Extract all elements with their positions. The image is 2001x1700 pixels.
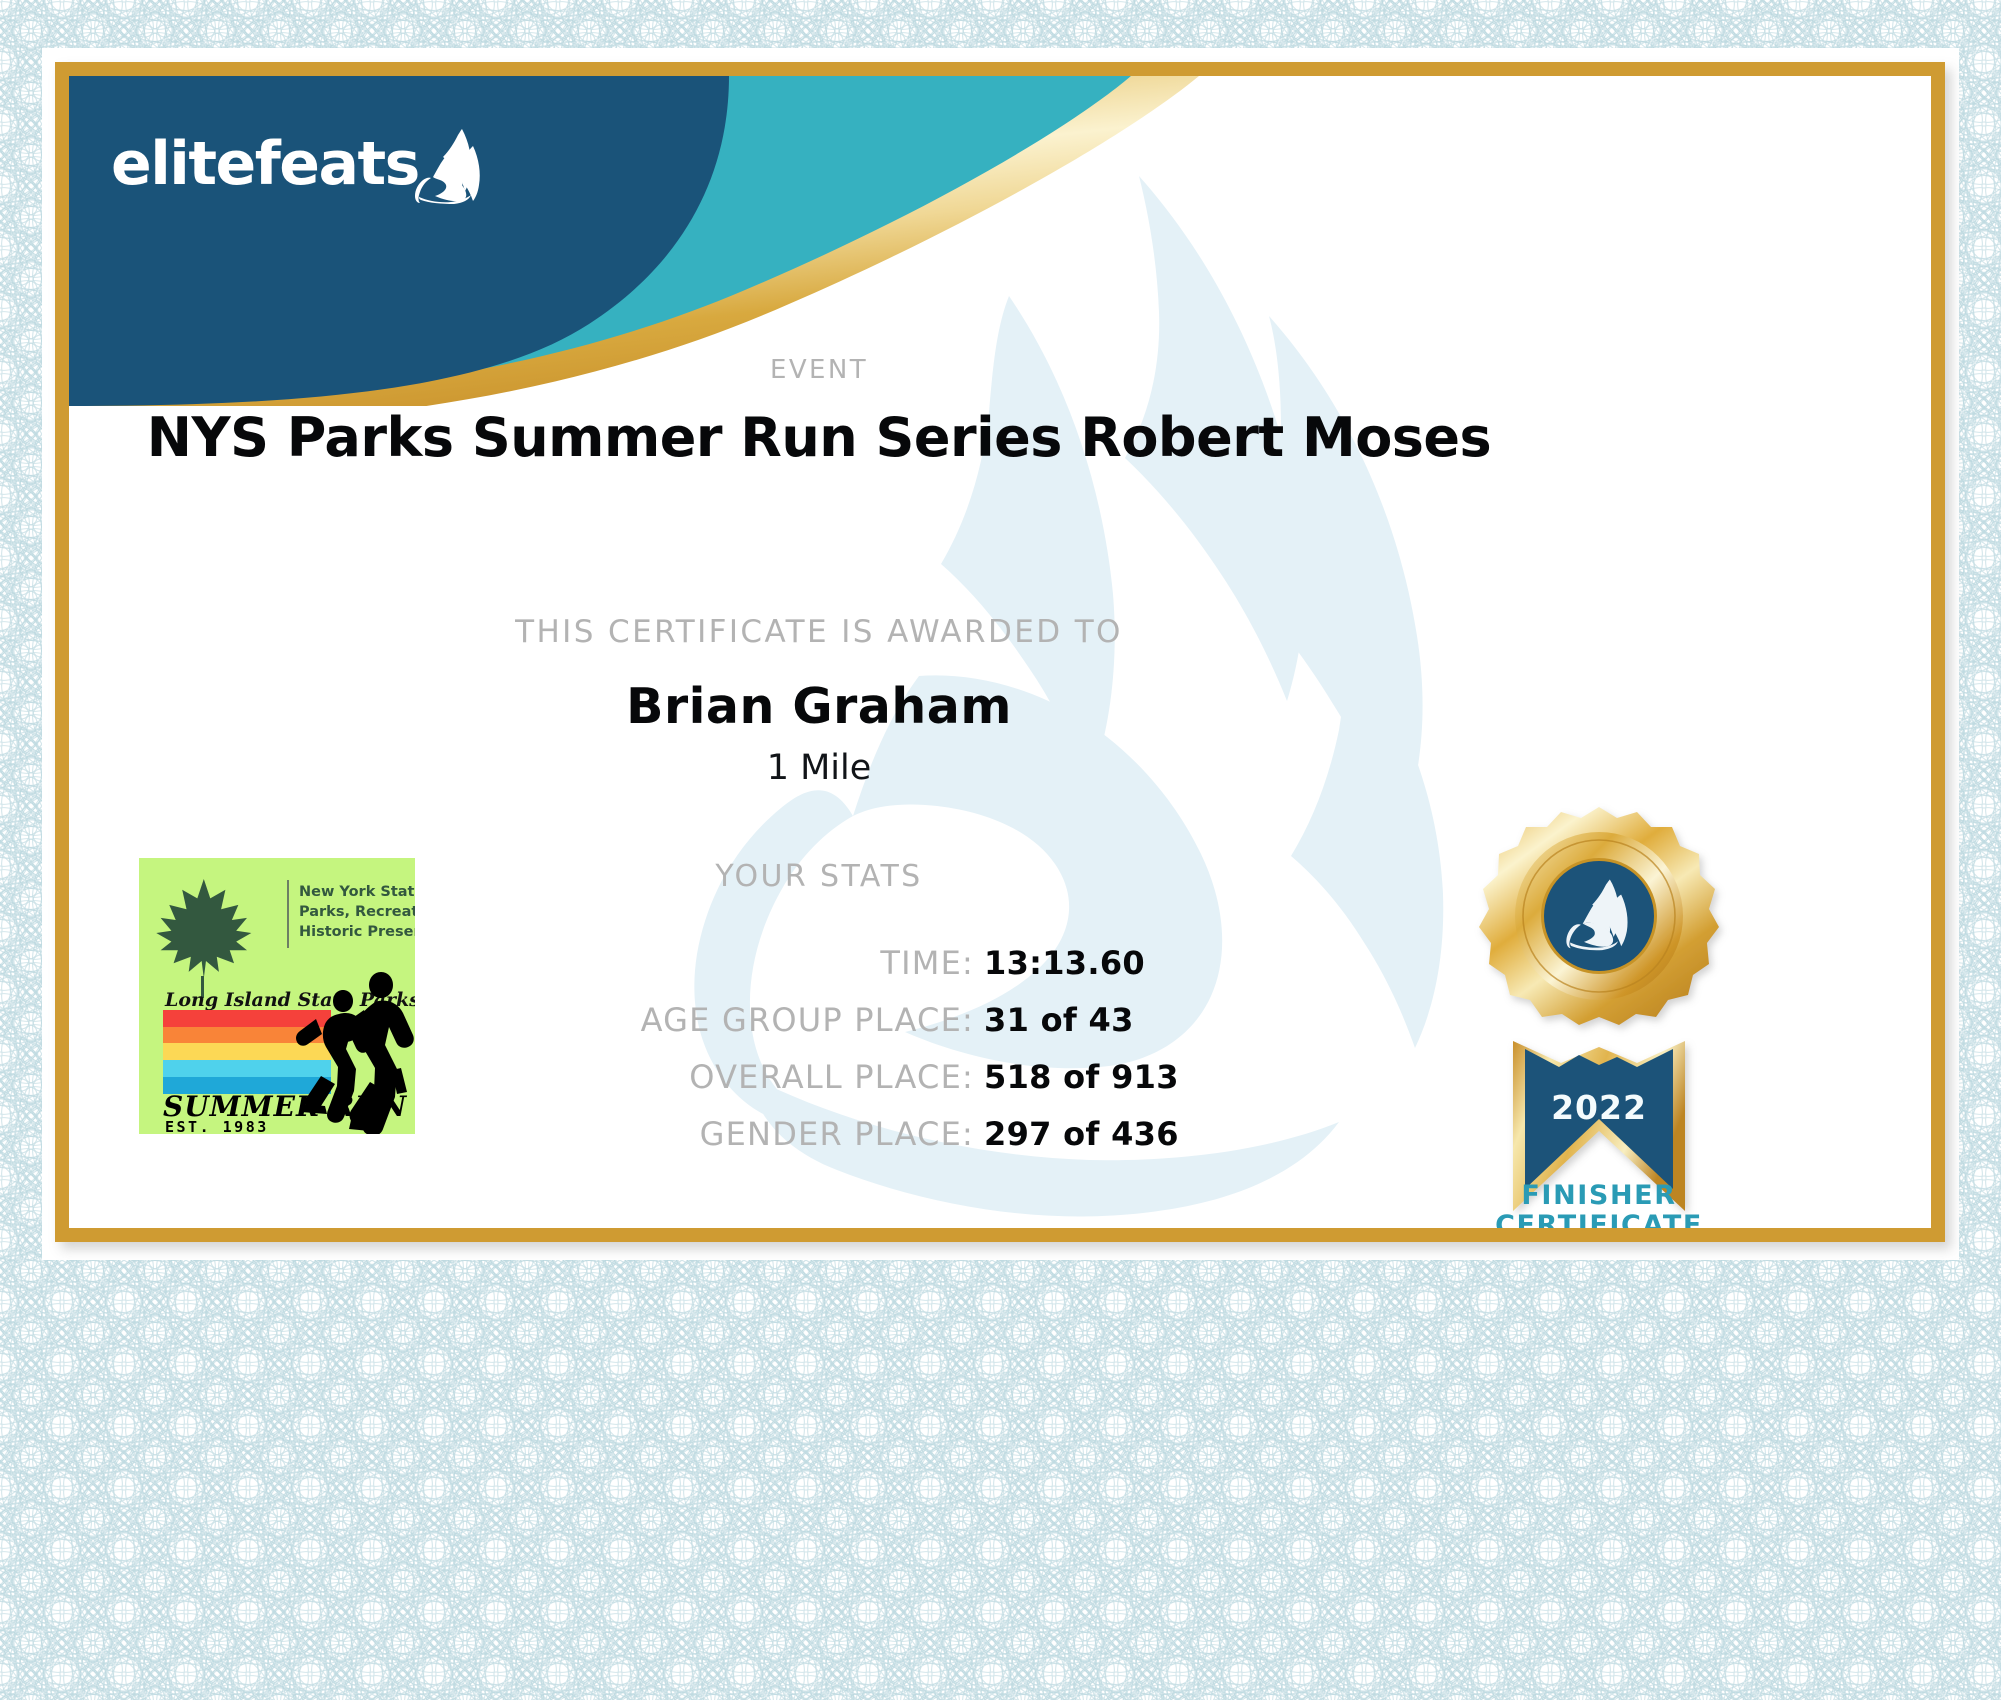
badge-year: 2022 [1551, 1088, 1647, 1127]
winged-foot-icon [415, 126, 487, 204]
brand-wordmark: elitefeats [111, 134, 419, 194]
stat-value: 31 of 43 [984, 1001, 1314, 1039]
certificate-gold-frame: elitefeats EVENT NYS Parks Summer Run Se… [55, 62, 1945, 1242]
recipient-name: Brian Graham [69, 678, 1569, 735]
agency-line-2: Parks, Recreation and [299, 904, 415, 920]
rainbow-stripes [163, 1010, 331, 1094]
gold-medal-rosette-icon: 2022 [1467, 801, 1731, 1221]
badge-caption-line-1: FINISHER [1437, 1181, 1761, 1211]
stat-value: 297 of 436 [984, 1115, 1314, 1153]
stat-key: AGE GROUP PLACE: [324, 1001, 984, 1039]
established: EST. 1983 [165, 1118, 269, 1134]
badge-caption: FINISHER CERTIFICATE [1437, 1181, 1761, 1228]
stat-key: TIME: [324, 944, 984, 982]
certificate-inner-panel: elitefeats EVENT NYS Parks Summer Run Se… [69, 76, 1931, 1228]
race-division: 1 Mile [69, 748, 1569, 788]
agency-line-3: Historic Preservation [299, 924, 415, 940]
agency-line-1: New York State [299, 884, 415, 900]
event-label: EVENT [69, 355, 1569, 385]
stat-key: OVERALL PLACE: [324, 1058, 984, 1096]
certificate-page: elitefeats EVENT NYS Parks Summer Run Se… [0, 0, 2001, 1700]
event-title: NYS Parks Summer Run Series Robert Moses [69, 406, 1569, 469]
stat-value: 13:13.60 [984, 944, 1314, 982]
elitefeats-logo: elitefeats [111, 134, 487, 204]
stat-key: GENDER PLACE: [324, 1115, 984, 1153]
stat-value: 518 of 913 [984, 1058, 1314, 1096]
nys-parks-summer-run-logo: New York State Parks, Recreation and His… [139, 858, 415, 1134]
awarded-to-label: THIS CERTIFICATE IS AWARDED TO [69, 614, 1569, 650]
badge-caption-line-2: CERTIFICATE [1437, 1211, 1761, 1228]
